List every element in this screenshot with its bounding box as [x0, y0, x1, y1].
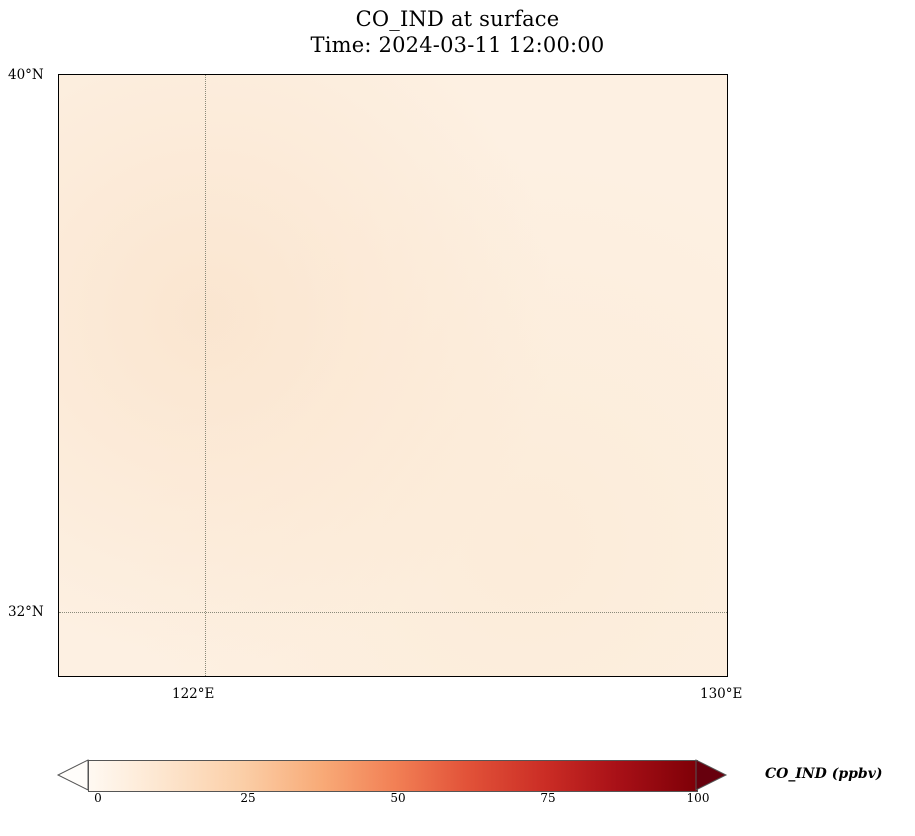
colorbar-min-extend-arrow	[58, 760, 88, 790]
xtick-label-122E: 122°E	[172, 686, 214, 702]
xtick-label-130E: 130°E	[700, 686, 742, 702]
colorbar-tick-100: 100	[687, 791, 710, 805]
colorbar-tick-75: 75	[540, 791, 555, 805]
chart-title: CO_IND at surface	[0, 6, 915, 32]
chart-subtitle: Time: 2024-03-11 12:00:00	[0, 32, 915, 58]
graticule-32N	[59, 612, 727, 613]
colorbar-tick-25: 25	[240, 791, 255, 805]
map-plot-area	[58, 74, 728, 677]
colorbar-max-extend-arrow	[696, 760, 726, 790]
colorbar-tick-50: 50	[390, 791, 405, 805]
co-ind-field-raster	[59, 75, 727, 676]
ytick-label-32N: 32°N	[8, 604, 44, 620]
chart-title-block: CO_IND at surface Time: 2024-03-11 12:00…	[0, 6, 915, 58]
colorbar-title: CO_IND (ppbv)	[765, 766, 882, 782]
colorbar-gradient	[88, 760, 698, 792]
colorbar: 0 25 50 75 100	[58, 760, 726, 794]
ytick-label-40N: 40°N	[8, 67, 44, 83]
colorbar-tick-0: 0	[94, 791, 102, 805]
graticule-122E	[205, 75, 206, 676]
